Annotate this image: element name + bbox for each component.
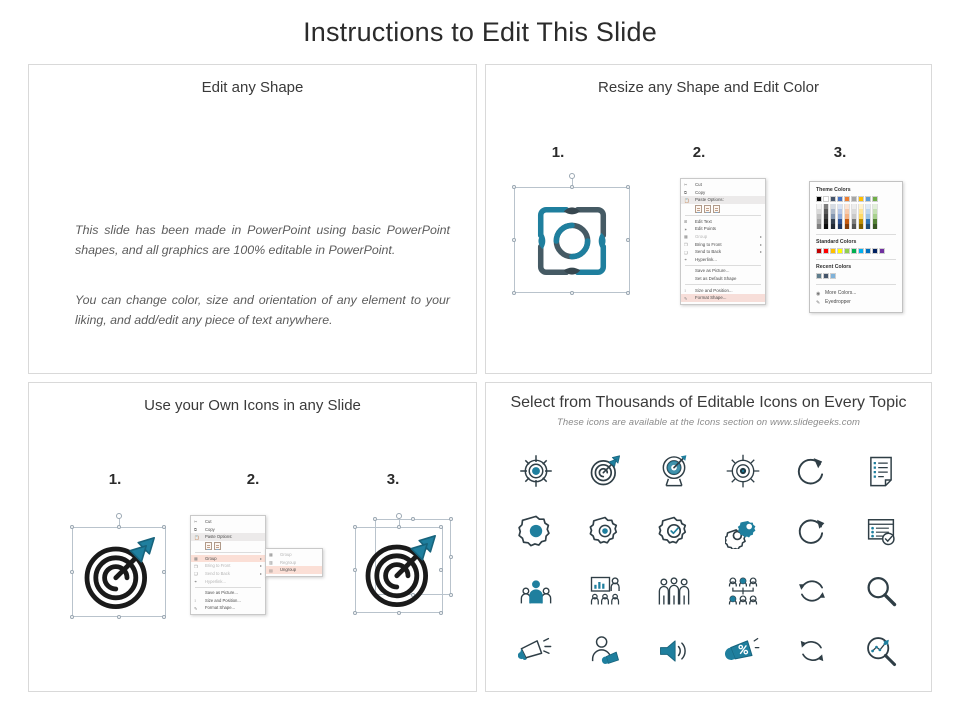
color-swatch[interactable] [844, 196, 850, 202]
icon-speaker-sound[interactable] [654, 631, 694, 671]
reload-circle-icon [794, 513, 830, 549]
size-position-icon: ↕ [684, 288, 689, 293]
group-submenu[interactable]: ▦Group ▥Regroup ▤Ungroup [265, 548, 323, 577]
palette-separator [816, 259, 896, 260]
resize-handle-ne[interactable] [626, 185, 630, 189]
paste-picture-icon[interactable] [713, 205, 720, 213]
edit-shape-paragraph-1: This slide has been made in PowerPoint u… [75, 220, 450, 261]
icon-double-gear[interactable] [723, 511, 763, 551]
dartboard-grouped[interactable] [72, 515, 172, 619]
context-menu-item-cut[interactable]: ✂Cut [681, 181, 765, 189]
icon-target-crosshair[interactable] [516, 451, 556, 491]
icon-magnifier[interactable] [861, 571, 901, 611]
slide-canvas: Instructions to Edit This Slide Edit any… [0, 0, 960, 720]
color-swatch[interactable] [837, 224, 843, 229]
color-swatch[interactable] [865, 248, 871, 254]
format-shape-icon: ✎ [684, 296, 689, 301]
group-icon: ▦ [269, 552, 274, 557]
context-menu-item-set-default-shape[interactable]: Set as Default Shape [681, 275, 765, 283]
checklist-document-icon [863, 453, 899, 489]
icon-gear-solid[interactable] [516, 511, 556, 551]
group-icon: ▦ [684, 234, 689, 239]
recent-colors-label: Recent Colors [816, 264, 896, 270]
theme-tint-column[interactable] [865, 204, 871, 229]
icon-megaphone-burst[interactable] [516, 631, 556, 671]
org-chart-people-icon [725, 573, 761, 609]
own-icons-step-number-2: 2. [233, 471, 273, 488]
context-menu-item-format-shape[interactable]: ✎Format Shape... [681, 294, 765, 302]
icon-gear-small[interactable] [585, 511, 625, 551]
icon-dartboard-arrow[interactable] [585, 451, 625, 491]
rotation-handle[interactable] [396, 513, 402, 519]
context-menu-item-save-as-picture[interactable]: Save as Picture... [191, 589, 265, 597]
megaphone-percent-icon [725, 633, 761, 669]
regroup-icon: ▥ [269, 560, 274, 565]
color-swatch[interactable] [858, 196, 864, 202]
sub-handle-a[interactable] [373, 517, 377, 521]
color-swatch[interactable] [823, 273, 829, 279]
person-megaphone-icon [587, 633, 623, 669]
edit-shape-paragraph-2: You can change color, size and orientati… [75, 290, 450, 331]
rotation-handle[interactable] [569, 173, 575, 179]
context-menu-item-bring-to-front[interactable]: ❐Bring to Front▸ [681, 241, 765, 249]
menu-separator [195, 552, 261, 553]
color-swatch[interactable] [830, 196, 836, 202]
double-gear-icon [725, 513, 761, 549]
context-menu-item-save-as-picture[interactable]: Save as Picture... [681, 267, 765, 275]
resize-handle-se[interactable] [626, 291, 630, 295]
magnifier-chart-icon [863, 633, 899, 669]
paste-option-icons[interactable] [681, 204, 765, 214]
format-shape-icon: ✎ [194, 606, 199, 611]
color-swatch[interactable] [851, 196, 857, 202]
resize-step-number-3: 3. [820, 144, 860, 161]
paste-merge-formatting-icon[interactable] [704, 205, 711, 213]
context-menu-item-format-shape[interactable]: ✎Format Shape... [191, 604, 265, 612]
color-swatch[interactable] [872, 248, 878, 254]
send-to-back-icon: ❑ [684, 250, 689, 255]
color-swatch[interactable] [844, 248, 850, 254]
size-position-icon: ↕ [194, 598, 199, 603]
context-menu-item-hyperlink[interactable]: ⚭Hyperlink... [681, 256, 765, 264]
bring-to-front-icon: ❐ [194, 564, 199, 569]
theme-tint-column[interactable] [823, 204, 829, 229]
ungroup-icon: ▤ [269, 568, 274, 573]
icon-checklist-report[interactable] [861, 511, 901, 551]
color-swatch[interactable] [858, 248, 864, 254]
theme-colors-row[interactable] [816, 196, 896, 202]
color-swatch[interactable] [865, 224, 871, 229]
shape-demo-selected[interactable] [514, 177, 630, 293]
color-swatch[interactable] [816, 224, 822, 229]
color-swatch[interactable] [872, 224, 878, 229]
color-picker-popup[interactable]: Theme Colors Standard Colors Recent Colo… [809, 181, 903, 313]
panel-resize-shape: Resize any Shape and Edit Color 1. 2. 3. [485, 64, 932, 374]
resize-handle-w[interactable] [512, 238, 516, 242]
resize-step-number-1: 1. [538, 144, 578, 161]
context-menu-item-cut[interactable]: ✂Cut [191, 518, 265, 526]
sub-handle-e[interactable] [449, 555, 453, 559]
sub-handle-c[interactable] [449, 517, 453, 521]
paste-keep-formatting-icon[interactable] [695, 205, 702, 213]
color-swatch[interactable] [872, 196, 878, 202]
icon-target-stand[interactable] [654, 451, 694, 491]
icon-refresh-clockwise[interactable] [792, 451, 832, 491]
context-menu-item-paste-options[interactable]: 📋Paste Options: [681, 196, 765, 204]
resize-handle-w[interactable] [70, 570, 74, 574]
icon-person-megaphone[interactable] [585, 631, 625, 671]
more-colors-button[interactable]: ◉More Colors... [816, 289, 896, 298]
resize-handle-nw[interactable] [353, 525, 357, 529]
context-menu-item-hyperlink[interactable]: ⚭Hyperlink... [191, 578, 265, 586]
eyedropper-icon: ✎ [816, 299, 820, 308]
context-menu-item-send-to-back[interactable]: ❑Send to Back▸ [191, 570, 265, 578]
gear-small-icon [587, 513, 623, 549]
crosshair-scope-icon [725, 453, 761, 489]
palette-separator [816, 284, 896, 285]
color-swatch[interactable] [816, 248, 822, 254]
scissors-icon: ✂ [684, 182, 689, 187]
context-menu-item-size-position[interactable]: ↕Size and Position... [681, 287, 765, 295]
context-menu-item-group[interactable]: ▦Group▸ [681, 233, 765, 241]
color-swatch[interactable] [858, 224, 864, 229]
paste-picture-icon[interactable] [214, 542, 221, 550]
icon-grid [502, 441, 915, 681]
theme-tint-column[interactable] [837, 204, 843, 229]
magnifier-icon [863, 573, 899, 609]
eyedropper-button[interactable]: ✎Eyedropper [816, 298, 896, 307]
theme-colors-label: Theme Colors [816, 187, 896, 193]
panel-title-edit-shape: Edit any Shape [29, 79, 476, 96]
color-swatch[interactable] [837, 248, 843, 254]
standard-colors-label: Standard Colors [816, 239, 896, 245]
page-title: Instructions to Edit This Slide [0, 17, 960, 48]
standard-colors-row[interactable] [816, 248, 896, 254]
target-stand-icon [656, 453, 692, 489]
resize-handle-nw[interactable] [70, 525, 74, 529]
theme-tints-grid[interactable] [816, 204, 896, 229]
link-icon: ⚭ [194, 579, 199, 584]
icon-sync-arrows[interactable] [792, 571, 832, 611]
context-menu-item-paste-options[interactable]: 📋Paste Options: [191, 533, 265, 541]
resize-handle-ne[interactable] [162, 525, 166, 529]
presentation-training-icon [587, 573, 623, 609]
color-swatch[interactable] [851, 248, 857, 254]
edit-points-icon: ✶ [684, 227, 689, 232]
icon-magnifier-chart[interactable] [861, 631, 901, 671]
context-menu-item-bring-to-front[interactable]: ❐Bring to Front▸ [191, 562, 265, 570]
circular-arrows-icon [794, 633, 830, 669]
recent-colors-row[interactable] [816, 273, 896, 279]
gear-solid-icon [518, 513, 554, 549]
color-swatch[interactable] [823, 196, 829, 202]
copy-icon: ⧉ [684, 190, 689, 195]
dartboard-arrow-icon [78, 533, 160, 613]
context-menu-item-send-to-back[interactable]: ❑Send to Back▸ [681, 248, 765, 256]
menu-separator [685, 265, 761, 266]
paste-keep-formatting-icon[interactable] [205, 542, 212, 550]
target-crosshair-icon [518, 453, 554, 489]
panel-own-icons: Use your Own Icons in any Slide 1. 2. 3. [28, 382, 477, 692]
context-menu-item-edit-text[interactable]: ⊞Edit Text [681, 218, 765, 226]
resize-handle-sw[interactable] [512, 291, 516, 295]
icon-checklist-document[interactable] [861, 451, 901, 491]
color-swatch[interactable] [830, 224, 836, 229]
own-icons-step-number-3: 3. [373, 471, 413, 488]
resize-handle-n[interactable] [570, 185, 574, 189]
resize-handle-e[interactable] [162, 570, 166, 574]
resize-handle-e[interactable] [626, 238, 630, 242]
link-icon: ⚭ [684, 257, 689, 262]
color-swatch[interactable] [816, 273, 822, 279]
speaker-sound-icon [656, 633, 692, 669]
icon-reload-circle[interactable] [792, 511, 832, 551]
theme-tint-column[interactable] [851, 204, 857, 229]
panel-title-resize-shape: Resize any Shape and Edit Color [486, 79, 931, 96]
menu-separator [195, 587, 261, 588]
chevron-right-icon: ▸ [260, 555, 262, 563]
palette-separator [816, 234, 896, 235]
checklist-report-icon [863, 513, 899, 549]
sub-handle-h[interactable] [449, 593, 453, 597]
resize-handle-s[interactable] [397, 611, 401, 615]
clipboard-icon: 📋 [194, 535, 199, 540]
chevron-right-icon: ▸ [260, 562, 262, 570]
theme-tint-column[interactable] [858, 204, 864, 229]
submenu-item-regroup[interactable]: ▥Regroup [266, 559, 322, 567]
resize-handle-s[interactable] [117, 615, 121, 619]
resize-handle-se[interactable] [439, 611, 443, 615]
color-swatch[interactable] [830, 273, 836, 279]
gear-check-icon [656, 513, 692, 549]
theme-tint-column[interactable] [844, 204, 850, 229]
own-icons-step-number-1: 1. [95, 471, 135, 488]
people-group-icon [518, 573, 554, 609]
theme-tint-column[interactable] [872, 204, 878, 229]
icon-crosshair-scope[interactable] [723, 451, 763, 491]
sub-handle-b[interactable] [411, 517, 415, 521]
icon-team-three-people[interactable] [654, 571, 694, 611]
color-swatch[interactable] [830, 248, 836, 254]
panel-edit-any-shape: Edit any Shape This slide has been made … [28, 64, 477, 374]
submenu-item-group[interactable]: ▦Group [266, 551, 322, 559]
resize-handle-ne[interactable] [439, 525, 443, 529]
resize-handle-n[interactable] [397, 525, 401, 529]
resize-step-number-2: 2. [679, 144, 719, 161]
scissors-icon: ✂ [194, 519, 199, 524]
resize-handle-n[interactable] [117, 525, 121, 529]
panel-editable-icons: Select from Thousands of Editable Icons … [485, 382, 932, 692]
megaphone-burst-icon [518, 633, 554, 669]
paste-option-icons[interactable] [191, 541, 265, 551]
resize-handle-nw[interactable] [512, 185, 516, 189]
submenu-item-ungroup[interactable]: ▤Ungroup [266, 566, 322, 574]
icon-circular-arrows[interactable] [792, 631, 832, 671]
dartboard-arrow-icon [359, 531, 441, 611]
group-context-menu[interactable]: ✂Cut ⧉Copy 📋Paste Options: ▦Group▸ ❐Brin… [190, 515, 266, 615]
dartboard-ungrouped[interactable] [351, 513, 455, 619]
chevron-right-icon: ▸ [760, 248, 762, 256]
icon-presentation-training[interactable] [585, 571, 625, 611]
menu-separator [685, 284, 761, 285]
color-swatch[interactable] [879, 248, 885, 254]
chevron-right-icon: ▸ [760, 241, 762, 249]
copy-icon: ⧉ [194, 527, 199, 532]
shape-context-menu[interactable]: ✂Cut ⧉Copy 📋Paste Options: ⊞Edit Text ✶E… [680, 178, 766, 305]
resize-handle-s[interactable] [570, 291, 574, 295]
theme-tint-column[interactable] [830, 204, 836, 229]
chevron-right-icon: ▸ [760, 233, 762, 241]
panel-title-editable-icons: Select from Thousands of Editable Icons … [486, 394, 931, 412]
color-swatch[interactable] [823, 224, 829, 229]
icon-megaphone-percent[interactable] [723, 631, 763, 671]
team-three-people-icon [656, 573, 692, 609]
context-menu-item-size-position[interactable]: ↕Size and Position... [191, 597, 265, 605]
color-swatch[interactable] [844, 224, 850, 229]
sync-arrows-icon [794, 573, 830, 609]
bring-to-front-icon: ❐ [684, 242, 689, 247]
resize-handle-w[interactable] [353, 568, 357, 572]
theme-tint-column[interactable] [816, 204, 822, 229]
context-menu-item-group[interactable]: ▦Group▸ [191, 555, 265, 563]
refresh-clockwise-icon [794, 453, 830, 489]
group-icon: ▦ [194, 556, 199, 561]
resize-handle-sw[interactable] [353, 611, 357, 615]
color-swatch[interactable] [851, 224, 857, 229]
send-to-back-icon: ❑ [194, 571, 199, 576]
context-menu-item-copy[interactable]: ⧉Copy [191, 526, 265, 534]
resize-handle-se[interactable] [162, 615, 166, 619]
four-square-gear-shape-icon [522, 195, 622, 287]
color-swatch[interactable] [816, 196, 822, 202]
edit-text-icon: ⊞ [684, 219, 689, 224]
panel-title-own-icons: Use your Own Icons in any Slide [29, 397, 476, 414]
menu-separator [685, 215, 761, 216]
icon-org-chart-people[interactable] [723, 571, 763, 611]
color-swatch[interactable] [837, 196, 843, 202]
context-menu-item-edit-points[interactable]: ✶Edit Points [681, 225, 765, 233]
color-swatch[interactable] [823, 248, 829, 254]
color-swatch[interactable] [865, 196, 871, 202]
icon-people-group[interactable] [516, 571, 556, 611]
resize-handle-sw[interactable] [70, 615, 74, 619]
chevron-right-icon: ▸ [260, 570, 262, 578]
dartboard-arrow-icon [587, 453, 623, 489]
panel-subtitle-editable-icons: These icons are available at the Icons s… [486, 417, 931, 428]
rotation-handle[interactable] [116, 513, 122, 519]
icon-gear-check[interactable] [654, 511, 694, 551]
context-menu-item-copy[interactable]: ⧉Copy [681, 189, 765, 197]
clipboard-icon: 📋 [684, 198, 689, 203]
